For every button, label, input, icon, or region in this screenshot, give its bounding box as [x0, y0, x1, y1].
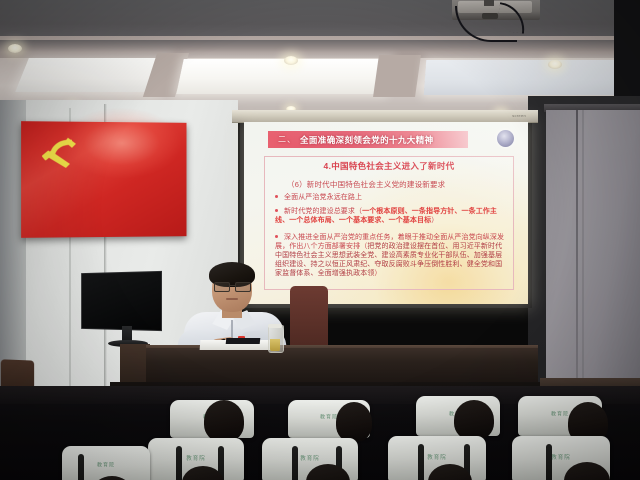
seat-strap [546, 444, 552, 480]
slide-title-text: 全面准确深刻领会党的十九大精神 [300, 134, 434, 146]
audience-head [336, 402, 372, 442]
ceiling-downlight-icon [548, 60, 562, 69]
audience-seat: 教育院 [512, 436, 610, 480]
slide-bullet: 全面从严治党永远在路上 [275, 193, 503, 202]
slide-section-heading: 4.中国特色社会主义进入了新时代 [265, 160, 513, 172]
bullet-text-tail: ） [431, 217, 438, 224]
audience-seat: 教育院 [388, 436, 486, 480]
bullet-text: 新时代党的建设总要求（ [284, 208, 362, 215]
bullet-text: 全面从严治党永远在路上 [284, 194, 362, 201]
ceiling-light-panel [176, 59, 391, 94]
curtain-fold [576, 110, 578, 382]
audience-seat: 教育院 [262, 438, 358, 480]
bullet-text-tail: ） [374, 270, 381, 277]
slide-bullet: 深入推进全面从严治党的重点任务，着眼于推动全面从严治党向纵深发展，作出八个方面部… [275, 233, 505, 278]
glasses-lens [214, 282, 230, 292]
party-flag [21, 121, 186, 238]
monitor-screen [81, 271, 162, 331]
slide-content-box: 4.中国特色社会主义进入了新时代 （6）新时代中国特色社会主义党的建设新要求 全… [264, 156, 514, 290]
slide-title-number: 二、 [278, 134, 296, 145]
bullet-dot-icon [275, 235, 278, 238]
audience-head [454, 400, 494, 440]
glasses-icon [214, 282, 251, 290]
bullet-dot-icon [275, 195, 278, 198]
desktop-monitor [78, 272, 164, 352]
audience-head [204, 400, 244, 442]
ceiling-light-panel [424, 60, 626, 95]
housing-brand-label: screen [512, 113, 526, 118]
slide-emblem-icon [497, 130, 514, 147]
seat-cover-text: 教育院 [300, 454, 320, 462]
presenter-mouth [226, 298, 238, 300]
ceiling-divider [373, 55, 421, 97]
presenter-desk [146, 348, 538, 386]
slide-subheading: （6）新时代中国特色社会主义党的建设新要求 [287, 179, 445, 190]
seat-strap [176, 446, 182, 480]
ceiling-downlight-icon [284, 56, 298, 65]
dark-object-on-desk [226, 338, 261, 344]
seat-strap [78, 454, 84, 480]
seat-cover-text: 教育院 [427, 453, 447, 461]
audience-seat: 教育院 [148, 438, 244, 480]
seat-cover-text: 教育院 [551, 411, 569, 418]
seat-cover-text: 教育院 [186, 454, 206, 462]
tea-liquid [270, 339, 280, 351]
tea-cup [268, 325, 284, 353]
presenter-chair [290, 286, 328, 348]
ceiling-downlight-icon [8, 44, 22, 53]
window-curtain [546, 110, 640, 382]
seat-strap [418, 444, 424, 480]
seat-headrest-cover: 教育院 [62, 446, 150, 480]
audience-seat: 教育院 [62, 446, 150, 480]
curtain-fold [582, 110, 584, 382]
bullet-dot-icon [275, 209, 278, 212]
seat-strap [292, 446, 298, 480]
hammer-and-sickle-icon [42, 133, 84, 169]
glasses-lens [235, 282, 251, 292]
slide-title-bar: 二、 全面准确深刻领会党的十九大精神 [268, 131, 468, 148]
cup-lid [268, 324, 282, 328]
photo-scene: screen 二、 全面准确深刻领会党的十九大精神 4.中国特色社会主义进入了新… [0, 0, 640, 480]
seat-cover-text: 教育院 [551, 453, 571, 461]
audience-area: 教育院 教育院 教育院 教育院 教育院 [0, 386, 640, 480]
slide-bullet: 新时代党的建设总要求（一个根本原则、一条指导方针、一条工作主线、一个总体布局、一… [275, 207, 505, 225]
seat-cover-text: 教育院 [97, 462, 115, 469]
